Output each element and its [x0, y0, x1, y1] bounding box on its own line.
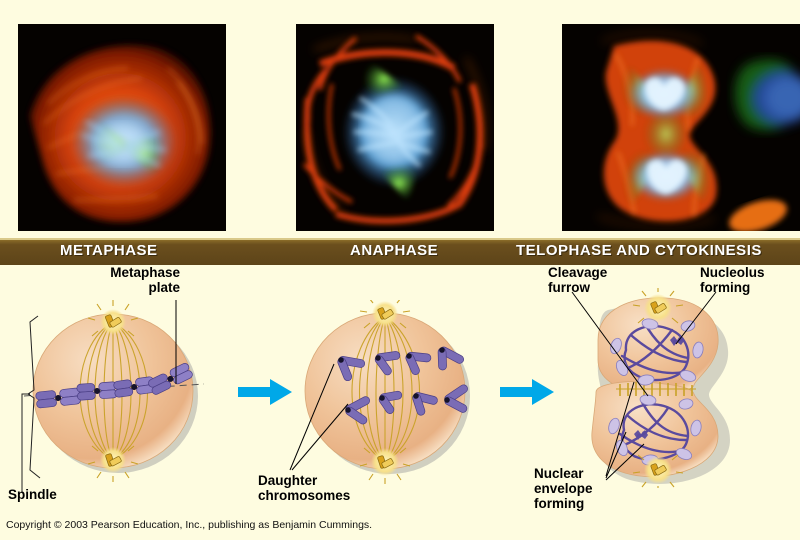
label-cleavage-furrow: Cleavage furrow — [548, 265, 607, 295]
label-nucleolus-line1: Nucleolus — [700, 265, 765, 280]
banner-label-telophase: TELOPHASE AND CYTOKINESIS — [516, 239, 762, 263]
label-spindle: Spindle — [8, 487, 57, 502]
label-daughter-line2: chromosomes — [258, 488, 350, 503]
label-cleavage-line1: Cleavage — [548, 265, 607, 280]
copyright-notice: Copyright © 2003 Pearson Education, Inc.… — [6, 519, 372, 531]
banner-label-metaphase: METAPHASE — [60, 239, 158, 263]
label-daughter-line1: Daughter — [258, 473, 317, 488]
telophase-micrograph — [562, 24, 800, 231]
label-nuclear-line3: forming — [534, 496, 584, 511]
label-nucleolus-line2: forming — [700, 280, 750, 295]
metaphase-cell-diagram — [18, 300, 213, 485]
anaphase-cell-diagram — [292, 300, 482, 485]
label-nuclear-envelope-forming: Nuclear envelope forming — [534, 466, 593, 511]
arrow-metaphase-to-anaphase — [238, 379, 292, 405]
anaphase-micrograph — [296, 24, 494, 231]
label-nucleolus-forming: Nucleolus forming — [700, 265, 765, 295]
label-nuclear-line2: envelope — [534, 481, 593, 496]
label-cleavage-line2: furrow — [548, 280, 590, 295]
banner-label-anaphase: ANAPHASE — [350, 239, 438, 263]
metaphase-micrograph — [18, 24, 226, 231]
arrow-anaphase-to-telophase — [500, 379, 554, 405]
label-daughter-chromosomes: Daughter chromosomes — [258, 473, 350, 503]
label-metaphase-plate-line2: plate — [148, 280, 180, 295]
figure-root: METAPHASE ANAPHASE TELOPHASE AND CYTOKIN… — [0, 0, 800, 540]
label-metaphase-plate-line1: Metaphase — [110, 265, 180, 280]
label-metaphase-plate: Metaphase plate — [56, 265, 180, 295]
label-nuclear-line1: Nuclear — [534, 466, 584, 481]
telophase-cell-diagram — [562, 288, 777, 488]
